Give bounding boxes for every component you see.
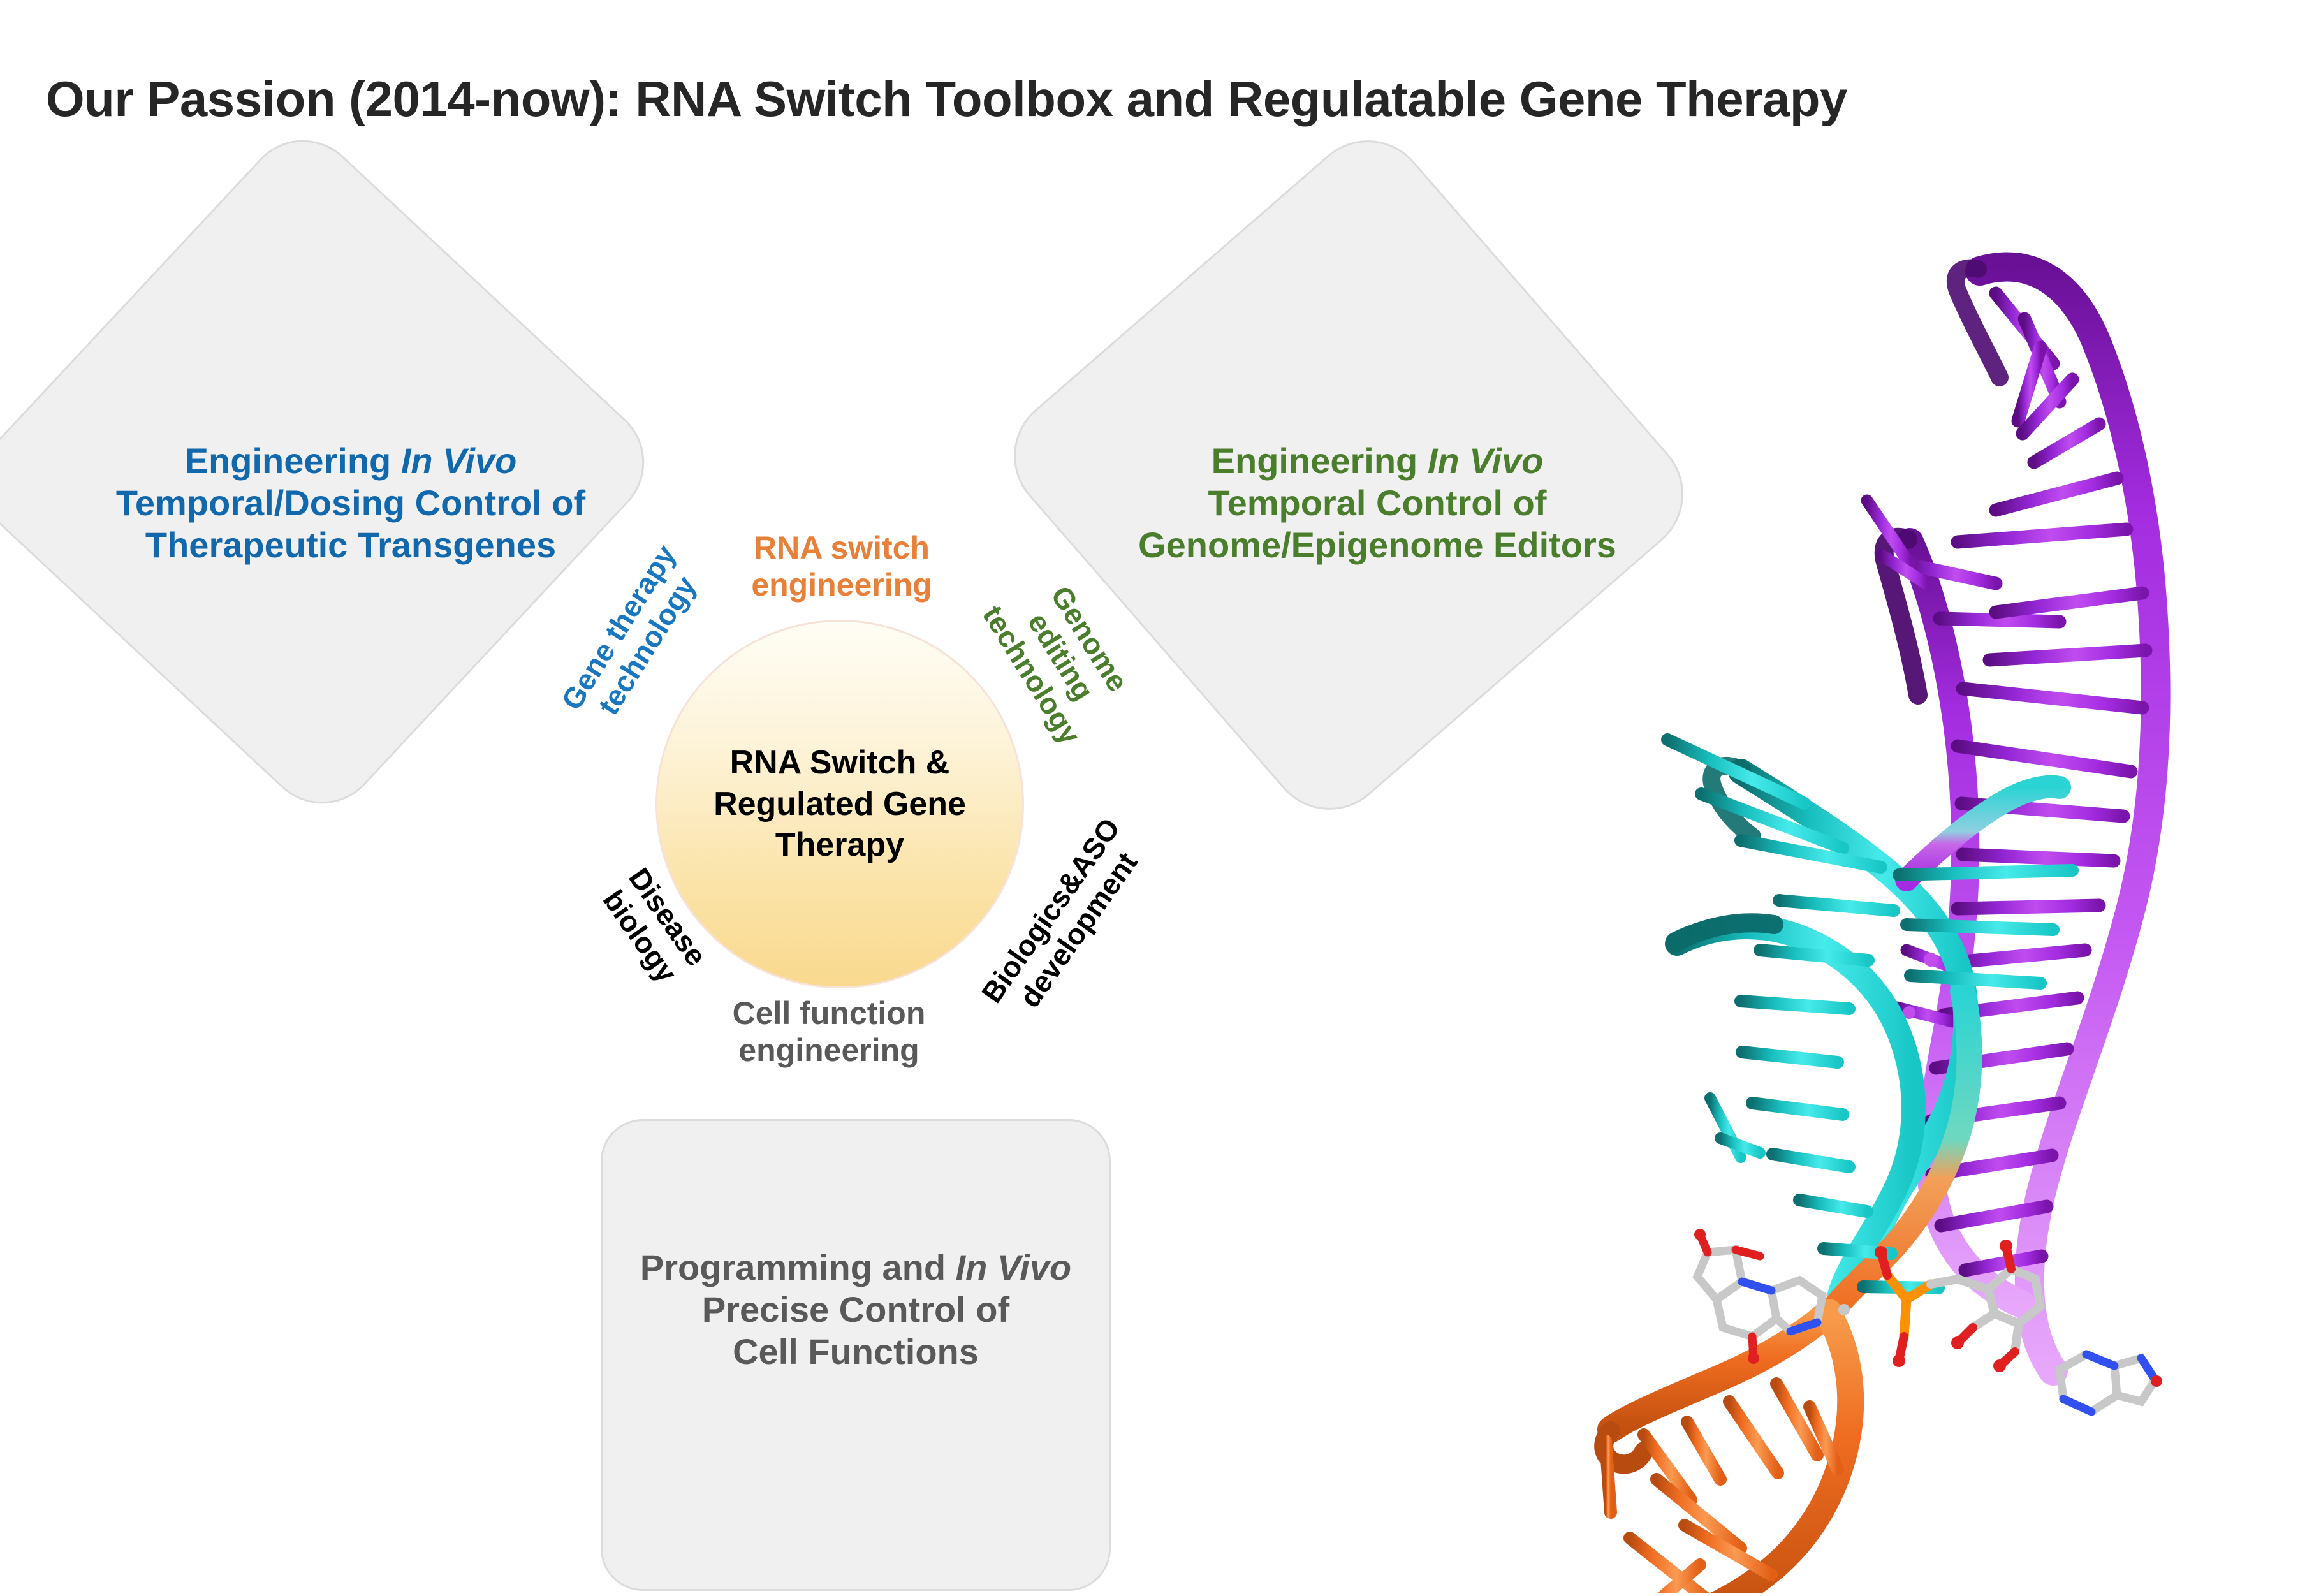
center-circle: RNA Switch & Regulated Gene Therapy	[655, 620, 1024, 988]
panel-transgenes	[0, 116, 668, 828]
center-circle-label: RNA Switch & Regulated Gene Therapy	[703, 742, 977, 865]
ring-label-rna-switch-engineering: RNA switch engineering	[714, 529, 969, 603]
ring-label-cell-function-engineering: Cell function engineering	[695, 995, 963, 1069]
rna-structure-image: .pb{stroke:url(#gPurple);stroke-linecap:…	[1549, 210, 2321, 1593]
page-title: Our Passion (2014-now): RNA Switch Toolb…	[46, 70, 1847, 128]
panel-cell-functions	[601, 1119, 1111, 1591]
